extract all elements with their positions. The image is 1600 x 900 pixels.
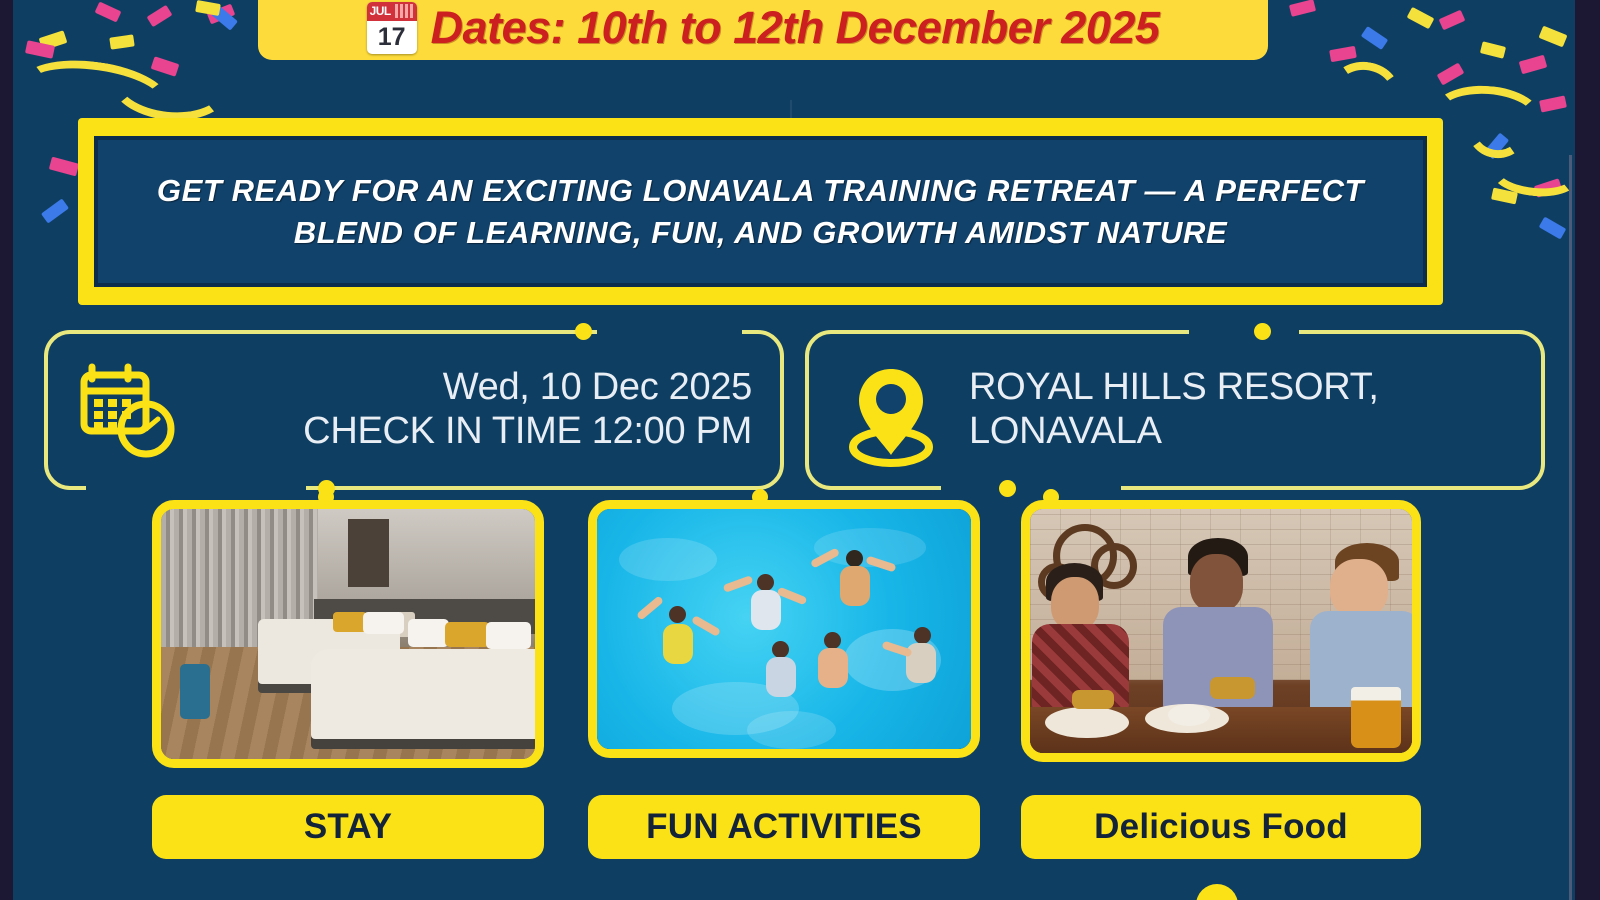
room-wall-art (348, 519, 389, 587)
confetti-piece (1289, 0, 1316, 17)
burger (1072, 690, 1114, 710)
calendar-emoji-month: JUL (367, 2, 417, 21)
confetti-piece (1519, 55, 1548, 75)
checkin-time: CHECK IN TIME 12:00 PM (198, 410, 752, 454)
card-dot-top-right (575, 323, 592, 340)
card-dot-bottom-left (999, 480, 1016, 497)
swimming-pool-photo (597, 509, 971, 749)
hotel-room-photo (161, 509, 535, 759)
room-luggage (180, 664, 210, 719)
diner-left (1030, 563, 1145, 709)
streamer-ribbon (1325, 56, 1404, 127)
tagline-inner-panel: GET READY FOR AN EXCITING LONAVALA TRAIN… (94, 136, 1427, 287)
info-card-venue: ROYAL HILLS RESORT, LONAVALA (805, 330, 1545, 490)
pool-ripple (619, 538, 716, 581)
tagline-text: GET READY FOR AN EXCITING LONAVALA TRAIN… (157, 170, 1364, 252)
confetti-piece (49, 157, 79, 177)
photo-tile-fun-activities (588, 500, 980, 758)
label-pill-stay: STAY (152, 795, 544, 859)
tile-dot-food (1043, 489, 1059, 505)
label-pill-delicious-food: Delicious Food (1021, 795, 1421, 859)
tagline-line-1: GET READY FOR AN EXCITING LONAVALA TRAIN… (157, 173, 1364, 208)
confetti-piece (1407, 7, 1435, 29)
tile-dot-stay (318, 489, 334, 505)
info-card-checkin: Wed, 10 Dec 2025 CHECK IN TIME 12:00 PM (44, 330, 784, 490)
tile-dot-fun (752, 489, 768, 505)
friends-dining-photo (1030, 509, 1412, 753)
card-border-notch (86, 486, 306, 490)
room-yellow-pillow (333, 612, 367, 632)
room-white-pillow (363, 612, 404, 635)
confetti-piece (1437, 63, 1465, 86)
confetti-piece (1439, 10, 1466, 31)
confetti-piece (1539, 217, 1567, 240)
card-border-notch (941, 486, 1121, 490)
confetti-piece (1329, 46, 1357, 62)
calendar-emoji-icon: JUL 17 (367, 2, 417, 54)
page-gutter-left (0, 0, 13, 900)
confetti-piece (95, 1, 122, 22)
date-banner: JUL 17 Dates: 10th to 12th December 2025 (258, 0, 1268, 60)
venue-name: ROYAL HILLS RESORT, (969, 366, 1519, 410)
retreat-poster: JUL 17 Dates: 10th to 12th December 2025… (0, 0, 1600, 900)
photo-tile-delicious-food (1021, 500, 1421, 762)
pool-ripple (747, 711, 837, 749)
confetti-piece (147, 5, 173, 27)
room-yellow-pillow (445, 622, 490, 647)
page-gutter-right[interactable] (1575, 0, 1600, 900)
calendar-clock-icon (70, 355, 180, 465)
room-bed-second (311, 649, 535, 739)
date-banner-text: Dates: 10th to 12th December 2025 (431, 2, 1160, 54)
venue-city: LONAVALA (969, 410, 1519, 454)
room-white-pillow (486, 622, 531, 650)
confetti-piece (1539, 95, 1567, 112)
confetti-piece (41, 199, 69, 224)
location-pin-icon (831, 355, 951, 465)
confetti-piece (1480, 41, 1506, 58)
calendar-emoji-day: 17 (367, 21, 417, 54)
burger (1210, 677, 1256, 699)
card-dot-top-right (1254, 323, 1271, 340)
photo-tile-stay (152, 500, 544, 768)
room-white-pillow (408, 619, 449, 647)
confetti-piece (109, 34, 134, 49)
confetti-piece (195, 0, 221, 16)
confetti-piece (1539, 26, 1568, 48)
label-pill-fun-activities: FUN ACTIVITIES (588, 795, 980, 859)
food-bowl (1168, 704, 1210, 726)
bottom-decor-dot (1196, 884, 1238, 900)
tagline-frame: GET READY FOR AN EXCITING LONAVALA TRAIN… (78, 118, 1443, 305)
tagline-line-2: BLEND OF LEARNING, FUN, AND GROWTH AMIDS… (294, 215, 1227, 250)
confetti-piece (1361, 26, 1388, 50)
checkin-date: Wed, 10 Dec 2025 (198, 366, 752, 410)
checkin-text: Wed, 10 Dec 2025 CHECK IN TIME 12:00 PM (198, 366, 758, 453)
card-border-notch (1189, 330, 1299, 334)
beer-glass (1351, 687, 1401, 748)
card-border-notch (597, 330, 742, 334)
venue-text: ROYAL HILLS RESORT, LONAVALA (969, 366, 1519, 453)
